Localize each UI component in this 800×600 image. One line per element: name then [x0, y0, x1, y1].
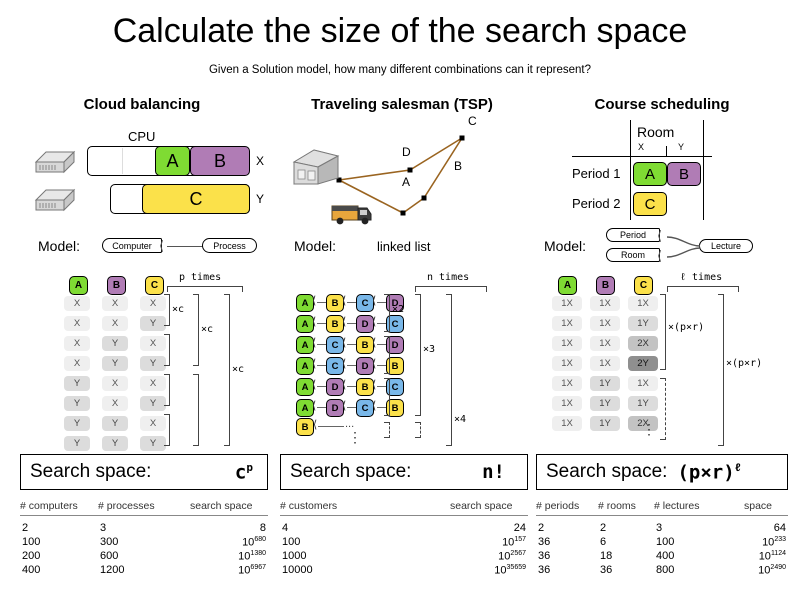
model-value-linked-list: linked list — [377, 239, 430, 254]
search-space-label: Search space: — [281, 461, 411, 483]
entity-room[interactable]: Room — [606, 248, 660, 262]
model-arrow-line — [167, 246, 204, 247]
table-header: search space — [450, 500, 512, 512]
grid-header-chip-c: C — [145, 276, 164, 295]
tsp-point-label-b: B — [454, 159, 462, 173]
timetable-vline-left — [630, 120, 631, 220]
room-column-label-x: X — [638, 142, 644, 152]
column-cloud-balancing: Cloud balancing CPU A B X — [12, 96, 272, 596]
timetable-vline-right — [703, 120, 704, 220]
grid-cell: 1X — [590, 296, 620, 311]
cpu-axis-label: CPU — [128, 129, 155, 144]
machine-label-x: X — [256, 154, 264, 168]
grid-cell: 2Y — [628, 356, 658, 371]
arrow-head-icon: ⟨ — [372, 380, 376, 391]
grid-cell: X — [64, 296, 90, 311]
arrow-head-icon: ⟨ — [312, 359, 316, 370]
arrow-head-icon: ⟨ — [159, 239, 164, 252]
column-course-scheduling: Course scheduling Room X Y Period 1 A B … — [532, 96, 792, 596]
arrow-head-icon: ⟨ — [342, 380, 346, 391]
model-label: Model: — [544, 238, 586, 254]
grid-cell: Y — [140, 396, 166, 411]
grid-cell: Y — [102, 416, 128, 431]
timetable-cell-c[interactable]: C — [633, 192, 667, 216]
tsp-point-label-d: D — [402, 145, 411, 159]
page-title: Calculate the size of the search space — [0, 12, 800, 51]
page-subtitle: Given a Solution model, how many differe… — [0, 64, 800, 76]
table-cell: 101380 — [20, 550, 266, 563]
room-group-label: Room — [637, 124, 674, 140]
bracket-level3 — [224, 294, 230, 446]
search-space-formula: n! — [482, 461, 505, 483]
tsp-node-partial: B — [296, 418, 314, 436]
period-row-label-2: Period 2 — [572, 196, 620, 211]
bracket-label-xc: ×c — [172, 304, 184, 315]
results-table-course: # periods # rooms # lectures space 22364… — [536, 500, 788, 580]
arrow-head-icon: ⟨ — [342, 359, 346, 370]
search-space-label: Search space: — [21, 461, 151, 483]
arrow-head-icon: ⟨ — [312, 317, 316, 328]
vertical-ellipsis-icon: ⋮ — [642, 426, 656, 432]
grid-cell: X — [140, 376, 166, 391]
machine-label-y: Y — [256, 192, 264, 206]
entity-process[interactable]: Process — [202, 238, 257, 253]
table-header: search space — [190, 500, 252, 512]
table-header: # computers — [20, 500, 78, 512]
bracket-level2 — [193, 294, 199, 366]
table-cell: 1035659 — [280, 564, 526, 577]
grid-cell: X — [140, 336, 166, 351]
arrow-head-icon: ⟨ — [342, 338, 346, 349]
tsp-link — [347, 365, 356, 366]
bracket-level1 — [164, 334, 170, 366]
arrow-head-icon: ⟨ — [372, 338, 376, 349]
search-space-label: Search space: — [537, 461, 667, 483]
top-bracket — [415, 286, 487, 292]
grid-cell: 1X — [628, 296, 658, 311]
vertical-ellipsis-icon: ⋮ — [348, 434, 362, 440]
cpu-bar-divider — [122, 148, 123, 174]
server-icon — [34, 148, 76, 176]
model-label: Model: — [294, 238, 336, 254]
formula-exponent: p — [246, 461, 253, 474]
table-rule — [20, 515, 268, 516]
column-traveling-salesman: Traveling salesman (TSP) — [272, 96, 532, 596]
search-space-box-course: Search space: (p×r)ℓ — [536, 454, 788, 490]
results-table-tsp: # customers search space 424100101571000… — [280, 500, 528, 580]
table-header: # lectures — [654, 500, 700, 512]
top-bracket-label: ℓ times — [680, 272, 722, 284]
table-header: # customers — [280, 500, 337, 512]
arrow-head-icon: ⟨ — [372, 296, 376, 307]
bracket-x3 — [415, 294, 421, 416]
table-cell: 64 — [536, 522, 786, 534]
bracket-label-xc: ×c — [232, 364, 244, 375]
bracket-label-xc: ×c — [201, 324, 213, 335]
search-space-formula: (p×r)ℓ — [677, 461, 741, 483]
bracket-x2 — [384, 336, 390, 374]
tsp-link — [347, 323, 356, 324]
table-cell: 10680 — [20, 536, 266, 549]
grid-header-chip-a: A — [69, 276, 88, 295]
entity-computer[interactable]: Computer — [102, 238, 162, 253]
grid-cell: Y — [64, 436, 90, 451]
grid-cell: X — [102, 376, 128, 391]
tsp-link — [317, 302, 326, 303]
grid-cell: Y — [102, 436, 128, 451]
table-cell: 10233 — [536, 536, 786, 549]
table-header: # rooms — [598, 500, 636, 512]
top-bracket — [667, 286, 739, 292]
grid-cell: X — [64, 316, 90, 331]
arrow-head-icon: ⟨ — [657, 249, 662, 262]
entity-lecture[interactable]: Lecture — [699, 239, 753, 253]
bracket-label-x4: ×4 — [454, 414, 466, 425]
server-icon — [34, 186, 76, 214]
grid-cell: 1Y — [628, 316, 658, 331]
column-title-tsp: Traveling salesman (TSP) — [272, 96, 532, 113]
arrow-head-icon: ⟨ — [342, 296, 346, 307]
grid-cell: 1X — [552, 296, 582, 311]
table-rule — [280, 515, 528, 516]
grid-cell: X — [64, 356, 90, 371]
model-label: Model: — [38, 238, 80, 254]
arrow-head-icon: ⟨ — [372, 317, 376, 328]
tsp-link — [347, 302, 356, 303]
grid-cell: 1Y — [590, 376, 620, 391]
table-rule — [536, 515, 788, 516]
grid-cell: 1X — [552, 376, 582, 391]
arrow-head-icon: ⟨ — [372, 401, 376, 412]
arrow-head-icon: ⟨ — [312, 296, 316, 307]
table-header: # processes — [98, 500, 155, 512]
table-cell: 10157 — [280, 536, 526, 549]
bracket-x2 — [384, 294, 390, 332]
grid-cell: X — [102, 296, 128, 311]
tsp-link — [317, 323, 326, 324]
grid-cell: Y — [140, 356, 166, 371]
bracket-x2 — [384, 378, 390, 416]
tsp-link — [317, 344, 326, 345]
arrow-head-icon: ⟨ — [312, 338, 316, 349]
segment-c[interactable]: C — [142, 184, 250, 214]
top-bracket — [167, 286, 243, 292]
grid-cell: 1X — [590, 336, 620, 351]
grid-cell: Y — [64, 416, 90, 431]
bracket-dashed — [384, 422, 390, 438]
column-title-course: Course scheduling — [532, 96, 792, 113]
grid-cell: 1Y — [628, 396, 658, 411]
table-header: # periods — [536, 500, 579, 512]
tsp-point-label-c: C — [468, 114, 477, 128]
grid-header-chip-b: B — [596, 276, 615, 295]
table-cell: 101124 — [536, 550, 786, 563]
arrow-head-icon: ⟨ — [342, 401, 346, 412]
tsp-link — [318, 426, 344, 427]
grid-cell: 1X — [552, 416, 582, 431]
table-cell: 106967 — [20, 564, 266, 577]
grid-cell: X — [102, 316, 128, 331]
segment-a[interactable]: A — [155, 146, 190, 176]
bracket-x4 — [446, 294, 452, 446]
bracket-label-x3: ×3 — [423, 344, 435, 355]
arrow-head-icon: ⟨ — [372, 359, 376, 370]
arrow-head-icon: ⟨ — [657, 229, 662, 242]
grid-cell: 1X — [552, 396, 582, 411]
grid-header-chip-c: C — [634, 276, 653, 295]
grid-cell: Y — [64, 396, 90, 411]
segment-b[interactable]: B — [190, 146, 250, 176]
table-cell: 102490 — [536, 564, 786, 577]
entity-period[interactable]: Period — [606, 228, 660, 242]
grid-cell: 1X — [590, 316, 620, 331]
table-cell: 24 — [280, 522, 526, 534]
table-cell: 8 — [20, 522, 266, 534]
timetable-hline — [572, 156, 712, 157]
bracket-level1 — [164, 294, 170, 326]
tsp-link — [317, 365, 326, 366]
grid-cell: 1Y — [590, 416, 620, 431]
grid-cell: 2X — [628, 336, 658, 351]
bracket-pr-2 — [718, 294, 724, 446]
search-space-formula: cp — [235, 461, 253, 483]
tsp-point-label-a: A — [402, 175, 410, 189]
bracket-level1 — [164, 374, 170, 406]
tsp-route-diagram — [272, 120, 522, 230]
formula-base: (p×r) — [677, 461, 734, 483]
bracket-label-x2: ×2 — [392, 304, 404, 315]
arrow-head-icon: ⟨ — [312, 401, 316, 412]
room-column-label-y: Y — [678, 142, 684, 152]
grid-cell: 1X — [552, 356, 582, 371]
grid-header-chip-a: A — [558, 276, 577, 295]
grid-cell: Y — [102, 336, 128, 351]
search-space-box-cloud: Search space: cp — [20, 454, 268, 490]
grid-cell: X — [140, 296, 166, 311]
period-row-label-1: Period 1 — [572, 166, 620, 181]
bracket-label-pr: ×(p×r) — [726, 358, 762, 369]
table-cell: 102567 — [280, 550, 526, 563]
bracket-dashed — [415, 422, 421, 438]
column-title-cloud-balancing: Cloud balancing — [12, 96, 272, 113]
timetable-vline-mid — [666, 146, 667, 156]
grid-cell: 1Y — [590, 396, 620, 411]
grid-cell: 1X — [590, 356, 620, 371]
formula-exponent: ℓ — [735, 461, 742, 474]
grid-cell: Y — [140, 316, 166, 331]
arrow-head-icon: ⟨ — [342, 317, 346, 328]
model-connector — [666, 235, 702, 261]
tsp-link — [347, 386, 356, 387]
bracket-level2 — [193, 374, 199, 446]
grid-cell: Y — [140, 436, 166, 451]
grid-cell: X — [102, 396, 128, 411]
timetable-cell-b[interactable]: B — [667, 162, 701, 186]
grid-cell: 1X — [552, 316, 582, 331]
grid-cell: Y — [102, 356, 128, 371]
bracket-pr-1 — [660, 294, 666, 370]
grid-cell: X — [140, 416, 166, 431]
grid-cell: Y — [64, 376, 90, 391]
timetable-cell-a[interactable]: A — [633, 162, 667, 186]
tsp-link — [317, 386, 326, 387]
tsp-link — [347, 407, 356, 408]
bracket-label-pr: ×(p×r) — [668, 322, 704, 333]
bracket-level1 — [164, 414, 170, 446]
arrow-head-icon: ⟨ — [313, 420, 317, 431]
search-space-box-tsp: Search space: n! — [280, 454, 528, 490]
grid-header-chip-b: B — [107, 276, 126, 295]
arrow-head-icon: ⟨ — [312, 380, 316, 391]
top-bracket-label: n times — [427, 272, 469, 283]
grid-cell: 1X — [628, 376, 658, 391]
table-header: space — [744, 500, 772, 512]
tsp-link — [347, 344, 356, 345]
grid-cell: X — [64, 336, 90, 351]
results-table-cloud: # computers # processes search space 238… — [20, 500, 268, 580]
tsp-link — [317, 407, 326, 408]
bracket-dashed — [660, 378, 666, 440]
slide-canvas: Calculate the size of the search space G… — [0, 0, 800, 600]
top-bracket-label: p times — [179, 272, 221, 283]
formula-base: c — [235, 461, 246, 483]
grid-cell: 1X — [552, 336, 582, 351]
